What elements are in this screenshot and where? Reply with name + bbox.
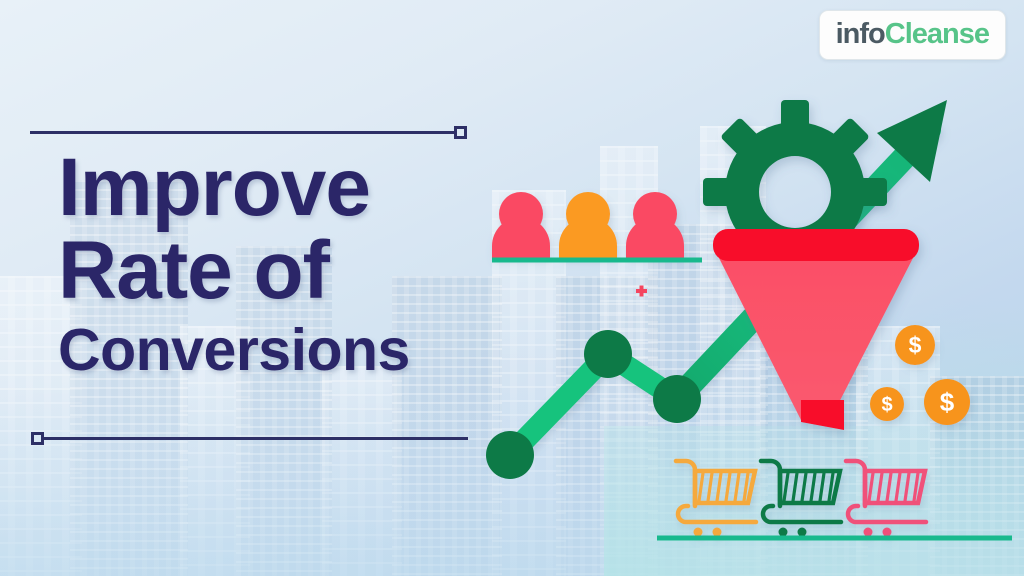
shopping-cart-icon [676, 461, 756, 537]
funnel-stem [801, 400, 844, 430]
revenue-coins: $ $ $ [870, 325, 970, 425]
cart-wheel [779, 528, 788, 537]
cart-handle [761, 461, 780, 506]
shopping-cart-icon [761, 461, 841, 537]
plus-marker [636, 286, 647, 297]
audience-people-group [492, 192, 684, 258]
cart-bottom [678, 506, 756, 522]
cart-handle [846, 461, 865, 506]
person-icon [559, 192, 617, 258]
shopping-carts [676, 461, 926, 537]
coin-symbol: $ [909, 332, 922, 358]
cart-wheel [864, 528, 873, 537]
coin-symbol: $ [940, 387, 955, 417]
coin: $ [870, 387, 904, 421]
cart-wheel [798, 528, 807, 537]
person-icon [626, 192, 684, 258]
cart-wheel [694, 528, 703, 537]
person-body [559, 217, 617, 258]
cart-bottom [763, 506, 841, 522]
cart-wheel [713, 528, 722, 537]
person-icon [492, 192, 550, 258]
cart-bottom [848, 506, 926, 522]
illustration: $ $ $ [0, 0, 1024, 576]
trend-node [584, 330, 632, 378]
funnel-top-bar [713, 229, 919, 261]
cart-handle [676, 461, 695, 506]
banner-root: infoCleanse Improve Rate of Conversions [0, 0, 1024, 576]
coin-symbol: $ [881, 394, 892, 416]
person-body [492, 217, 550, 258]
shopping-cart-icon [846, 461, 926, 537]
trend-line-nodes [486, 330, 701, 479]
person-body [626, 217, 684, 258]
trend-node [653, 375, 701, 423]
cart-wheel [883, 528, 892, 537]
trend-node [486, 431, 534, 479]
coin: $ [895, 325, 935, 365]
coin: $ [924, 379, 970, 425]
